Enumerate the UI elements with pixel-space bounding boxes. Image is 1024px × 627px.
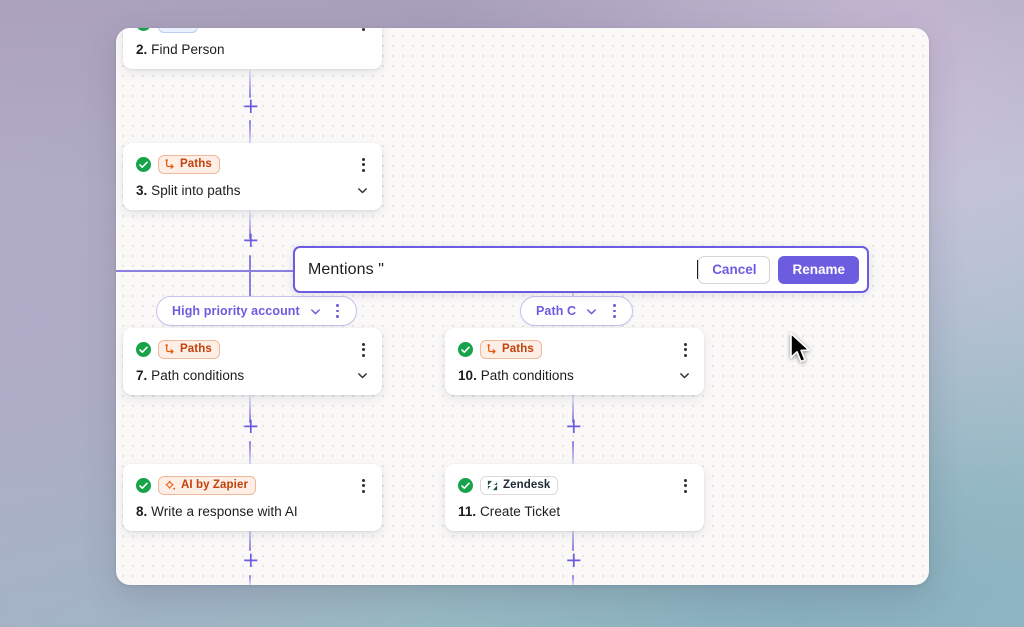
step-title: 2. Find Person xyxy=(136,42,225,57)
paths-icon xyxy=(165,159,175,169)
step-kebab-menu-icon[interactable] xyxy=(356,478,370,494)
step-number: 3. xyxy=(136,183,147,198)
add-step-button[interactable]: + xyxy=(242,419,258,435)
path-pill-path-c[interactable]: Path C xyxy=(520,296,633,326)
step-card-footer: 2. Find Person xyxy=(123,33,382,69)
step-kebab-menu-icon[interactable] xyxy=(356,342,370,358)
step-number: 7. xyxy=(136,368,147,383)
step-name: Path conditions xyxy=(151,368,244,383)
paths-icon xyxy=(165,344,175,354)
ai-by-zapier-icon xyxy=(165,480,176,491)
step-name: Split into paths xyxy=(151,183,240,198)
status-success-icon xyxy=(458,478,473,493)
step-kebab-menu-icon[interactable] xyxy=(356,157,370,173)
step-card-footer: 7. Path conditions xyxy=(123,359,382,395)
rename-button[interactable]: Rename xyxy=(778,256,859,284)
chevron-down-icon[interactable] xyxy=(678,369,691,382)
step-title: 3. Split into paths xyxy=(136,183,241,198)
step-card-find-person[interactable]: 2. Find Person xyxy=(123,28,382,69)
step-app-badge: Paths xyxy=(480,340,542,359)
chevron-down-icon[interactable] xyxy=(356,369,369,382)
step-app-badge-label: AI by Zapier xyxy=(181,479,248,491)
path-kebab-menu-icon[interactable] xyxy=(331,303,345,319)
step-number: 11. xyxy=(458,504,476,519)
step-app-badge: Paths xyxy=(158,340,220,359)
step-card-header: AI by Zapier xyxy=(123,464,382,495)
step-card-footer: 11. Create Ticket xyxy=(445,495,704,531)
connector-line xyxy=(572,575,574,585)
cancel-button[interactable]: Cancel xyxy=(698,256,770,284)
step-card-header: Paths xyxy=(123,143,382,174)
status-success-icon xyxy=(136,478,151,493)
step-app-badge: AI by Zapier xyxy=(158,476,256,495)
step-kebab-menu-icon[interactable] xyxy=(678,478,692,494)
path-pill-label: High priority account xyxy=(172,304,300,318)
step-title: 11. Create Ticket xyxy=(458,504,560,519)
status-success-icon xyxy=(458,342,473,357)
step-card-split-into-paths[interactable]: Paths 3. Split into paths xyxy=(123,143,382,210)
step-card-path-conditions-7[interactable]: Paths 7. Path conditions xyxy=(123,328,382,395)
step-number: 2. xyxy=(136,42,147,57)
chevron-down-icon[interactable] xyxy=(309,305,322,318)
status-success-icon xyxy=(136,157,151,172)
step-name: Write a response with AI xyxy=(151,504,298,519)
add-step-button[interactable]: + xyxy=(565,553,581,569)
step-name: Find Person xyxy=(151,42,224,57)
step-name: Create Ticket xyxy=(480,504,560,519)
step-app-badge xyxy=(158,28,198,33)
status-success-icon xyxy=(136,342,151,357)
step-app-badge-label: Paths xyxy=(502,343,534,355)
step-app-badge-label: Zendesk xyxy=(503,479,550,491)
step-number: 10. xyxy=(458,368,477,383)
rename-path-bar[interactable]: Cancel Rename xyxy=(293,246,869,293)
step-card-footer: 8. Write a response with AI xyxy=(123,495,382,531)
paths-icon xyxy=(487,344,497,354)
step-card-header: Zendesk xyxy=(445,464,704,495)
step-app-badge-label: Paths xyxy=(180,343,212,355)
step-card-write-response-with-ai[interactable]: AI by Zapier 8. Write a response with AI xyxy=(123,464,382,531)
step-card-footer: 3. Split into paths xyxy=(123,174,382,210)
step-card-path-conditions-10[interactable]: Paths 10. Path conditions xyxy=(445,328,704,395)
status-success-icon xyxy=(136,28,151,31)
step-kebab-menu-icon[interactable] xyxy=(356,28,370,32)
step-name: Path conditions xyxy=(481,368,574,383)
workflow-canvas[interactable]: + + + + + + 2. Find Per xyxy=(116,28,929,585)
connector-line xyxy=(249,575,251,585)
step-kebab-menu-icon[interactable] xyxy=(678,342,692,358)
chevron-down-icon[interactable] xyxy=(356,184,369,197)
step-app-badge: Zendesk xyxy=(480,476,558,495)
step-app-badge-label: Paths xyxy=(180,158,212,170)
add-step-button[interactable]: + xyxy=(565,419,581,435)
add-step-button[interactable]: + xyxy=(242,553,258,569)
chevron-down-icon[interactable] xyxy=(585,305,598,318)
step-card-footer: 10. Path conditions xyxy=(445,359,704,395)
step-app-badge: Paths xyxy=(158,155,220,174)
step-card-create-ticket[interactable]: Zendesk 11. Create Ticket xyxy=(445,464,704,531)
step-title: 10. Path conditions xyxy=(458,368,574,383)
zendesk-icon xyxy=(487,480,498,491)
rename-path-input[interactable] xyxy=(295,261,703,279)
step-title: 7. Path conditions xyxy=(136,368,244,383)
add-step-button[interactable]: + xyxy=(242,99,258,115)
step-number: 8. xyxy=(136,504,147,519)
add-step-button[interactable]: + xyxy=(242,233,258,249)
step-app-badge-label xyxy=(180,28,190,29)
step-card-header: Paths xyxy=(445,328,704,359)
step-title: 8. Write a response with AI xyxy=(136,504,298,519)
step-card-header: Paths xyxy=(123,328,382,359)
path-pill-label: Path C xyxy=(536,304,576,318)
path-kebab-menu-icon[interactable] xyxy=(607,303,621,319)
path-pill-high-priority-account[interactable]: High priority account xyxy=(156,296,357,326)
